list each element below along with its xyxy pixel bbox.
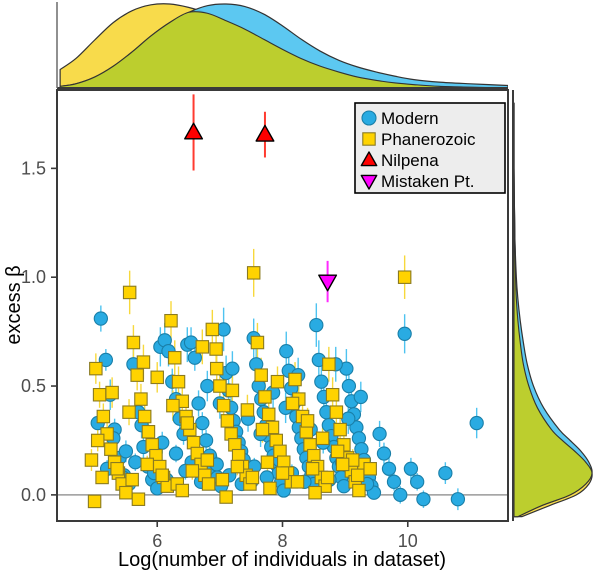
point-phanerozoic (226, 384, 238, 396)
point-phanerozoic (126, 473, 138, 485)
point-phanerozoic (132, 493, 144, 505)
point-modern (451, 493, 464, 506)
point-phanerozoic (351, 469, 363, 481)
x-axis-label: Log(number of individuals in dataset) (118, 549, 446, 571)
point-modern (169, 447, 182, 460)
point-modern (411, 475, 424, 488)
point-phanerozoic (336, 458, 348, 470)
point-phanerozoic (206, 323, 218, 335)
legend-marker-circle (362, 111, 376, 125)
point-modern (129, 456, 142, 469)
point-phanerozoic (167, 399, 179, 411)
point-modern (417, 493, 430, 506)
point-phanerozoic (231, 460, 243, 472)
point-phanerozoic (214, 380, 226, 392)
point-phanerozoic (323, 358, 335, 370)
point-modern (199, 434, 212, 447)
point-phanerozoic (271, 375, 283, 387)
point-modern (387, 475, 400, 488)
point-modern (382, 462, 395, 475)
point-phanerozoic (186, 465, 198, 477)
point-phanerozoic (241, 404, 253, 416)
point-modern (354, 390, 367, 403)
point-phanerozoic (334, 423, 346, 435)
point-phanerozoic (216, 473, 228, 485)
point-phanerozoic (220, 491, 232, 503)
point-phanerozoic (256, 423, 268, 435)
point-phanerozoic (92, 434, 104, 446)
point-phanerozoic (286, 397, 298, 409)
point-phanerozoic (211, 362, 223, 374)
point-phanerozoic (156, 469, 168, 481)
point-phanerozoic (202, 478, 214, 490)
legend-label: Nilpena (381, 151, 439, 170)
point-phanerozoic (321, 471, 333, 483)
point-modern (470, 416, 483, 429)
point-phanerozoic (276, 467, 288, 479)
point-phanerozoic (330, 406, 342, 418)
point-phanerozoic (217, 399, 229, 411)
point-phanerozoic (105, 443, 117, 455)
point-phanerozoic (289, 373, 301, 385)
point-phanerozoic (316, 432, 328, 444)
legend-label: Modern (381, 109, 439, 128)
legend-marker-square (363, 133, 375, 145)
point-phanerozoic (120, 487, 132, 499)
point-phanerozoic (264, 482, 276, 494)
point-phanerozoic (246, 471, 258, 483)
point-phanerozoic (247, 267, 259, 279)
point-modern (280, 345, 293, 358)
legend-label: Phanerozoic (381, 130, 476, 149)
point-phanerozoic (201, 454, 213, 466)
point-modern (315, 375, 328, 388)
point-phanerozoic (123, 286, 135, 298)
point-phanerozoic (135, 393, 147, 405)
point-phanerozoic (176, 484, 188, 496)
point-modern (439, 467, 452, 480)
point-phanerozoic (127, 336, 139, 348)
point-modern (373, 427, 386, 440)
x-tick-label: 6 (152, 531, 162, 551)
point-phanerozoic (261, 456, 273, 468)
point-modern (201, 379, 214, 392)
point-modern (404, 462, 417, 475)
point-modern (310, 318, 323, 331)
point-modern (196, 416, 209, 429)
point-phanerozoic (88, 495, 100, 507)
point-phanerozoic (306, 463, 318, 475)
point-phanerozoic (96, 471, 108, 483)
point-phanerozoic (142, 426, 154, 438)
x-tick-label: 8 (277, 531, 287, 551)
point-phanerozoic (137, 356, 149, 368)
point-phanerozoic (263, 408, 275, 420)
point-phanerozoic (85, 454, 97, 466)
point-phanerozoic (97, 410, 109, 422)
point-modern (226, 362, 239, 375)
point-phanerozoic (259, 391, 271, 403)
point-phanerozoic (309, 487, 321, 499)
point-phanerozoic (93, 389, 105, 401)
point-phanerozoic (131, 369, 143, 381)
point-phanerozoic (138, 410, 150, 422)
point-phanerozoic (221, 415, 233, 427)
point-phanerozoic (90, 362, 102, 374)
point-phanerozoic (326, 389, 338, 401)
point-modern (342, 379, 355, 392)
figure-panel: 6810 0.00.51.01.5 Log(number of individu… (0, 0, 600, 576)
point-phanerozoic (255, 369, 267, 381)
point-phanerozoic (141, 458, 153, 470)
point-phanerozoic (151, 371, 163, 383)
point-modern (94, 312, 107, 325)
y-axis-label: excess β (3, 265, 25, 344)
scatter-plot-svg: 6810 0.00.51.01.5 Log(number of individu… (0, 0, 600, 576)
y-tick-label: 0.0 (21, 485, 46, 505)
point-phanerozoic (181, 417, 193, 429)
point-modern (192, 397, 205, 410)
point-modern (394, 488, 407, 501)
point-modern (398, 327, 411, 340)
point-phanerozoic (251, 336, 263, 348)
point-phanerozoic (353, 484, 365, 496)
y-tick-label: 0.5 (21, 376, 46, 396)
point-phanerozoic (106, 386, 118, 398)
point-phanerozoic (111, 463, 123, 475)
point-phanerozoic (301, 415, 313, 427)
y-tick-label: 1.5 (21, 158, 46, 178)
point-phanerozoic (165, 315, 177, 327)
legend-label: Mistaken Pt. (381, 172, 475, 191)
point-phanerozoic (364, 463, 376, 475)
point-phanerozoic (331, 445, 343, 457)
point-phanerozoic (398, 271, 410, 283)
point-phanerozoic (210, 343, 222, 355)
point-phanerozoic (196, 341, 208, 353)
point-modern (377, 447, 390, 460)
legend[interactable]: ModernPhanerozoicNilpenaMistaken Pt. (355, 103, 505, 193)
point-phanerozoic (169, 352, 181, 364)
point-phanerozoic (291, 476, 303, 488)
x-tick-label: 10 (398, 531, 418, 551)
point-phanerozoic (123, 406, 135, 418)
point-phanerozoic (172, 375, 184, 387)
